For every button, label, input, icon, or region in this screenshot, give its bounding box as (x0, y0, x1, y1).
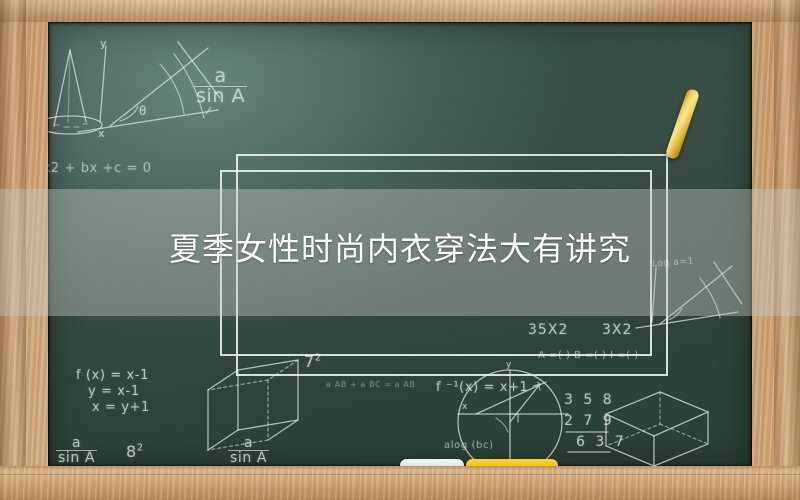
chalkboard-banner: asin A y x θ ax2 + bx +c = 0 f (x) = x-1… (0, 0, 800, 500)
ledge-highlight-line (0, 474, 800, 475)
chalk-ledge (0, 466, 800, 500)
page-title: 夏季女性时尚内衣穿法大有讲究 (0, 228, 800, 270)
frame-top-shade (0, 0, 800, 22)
